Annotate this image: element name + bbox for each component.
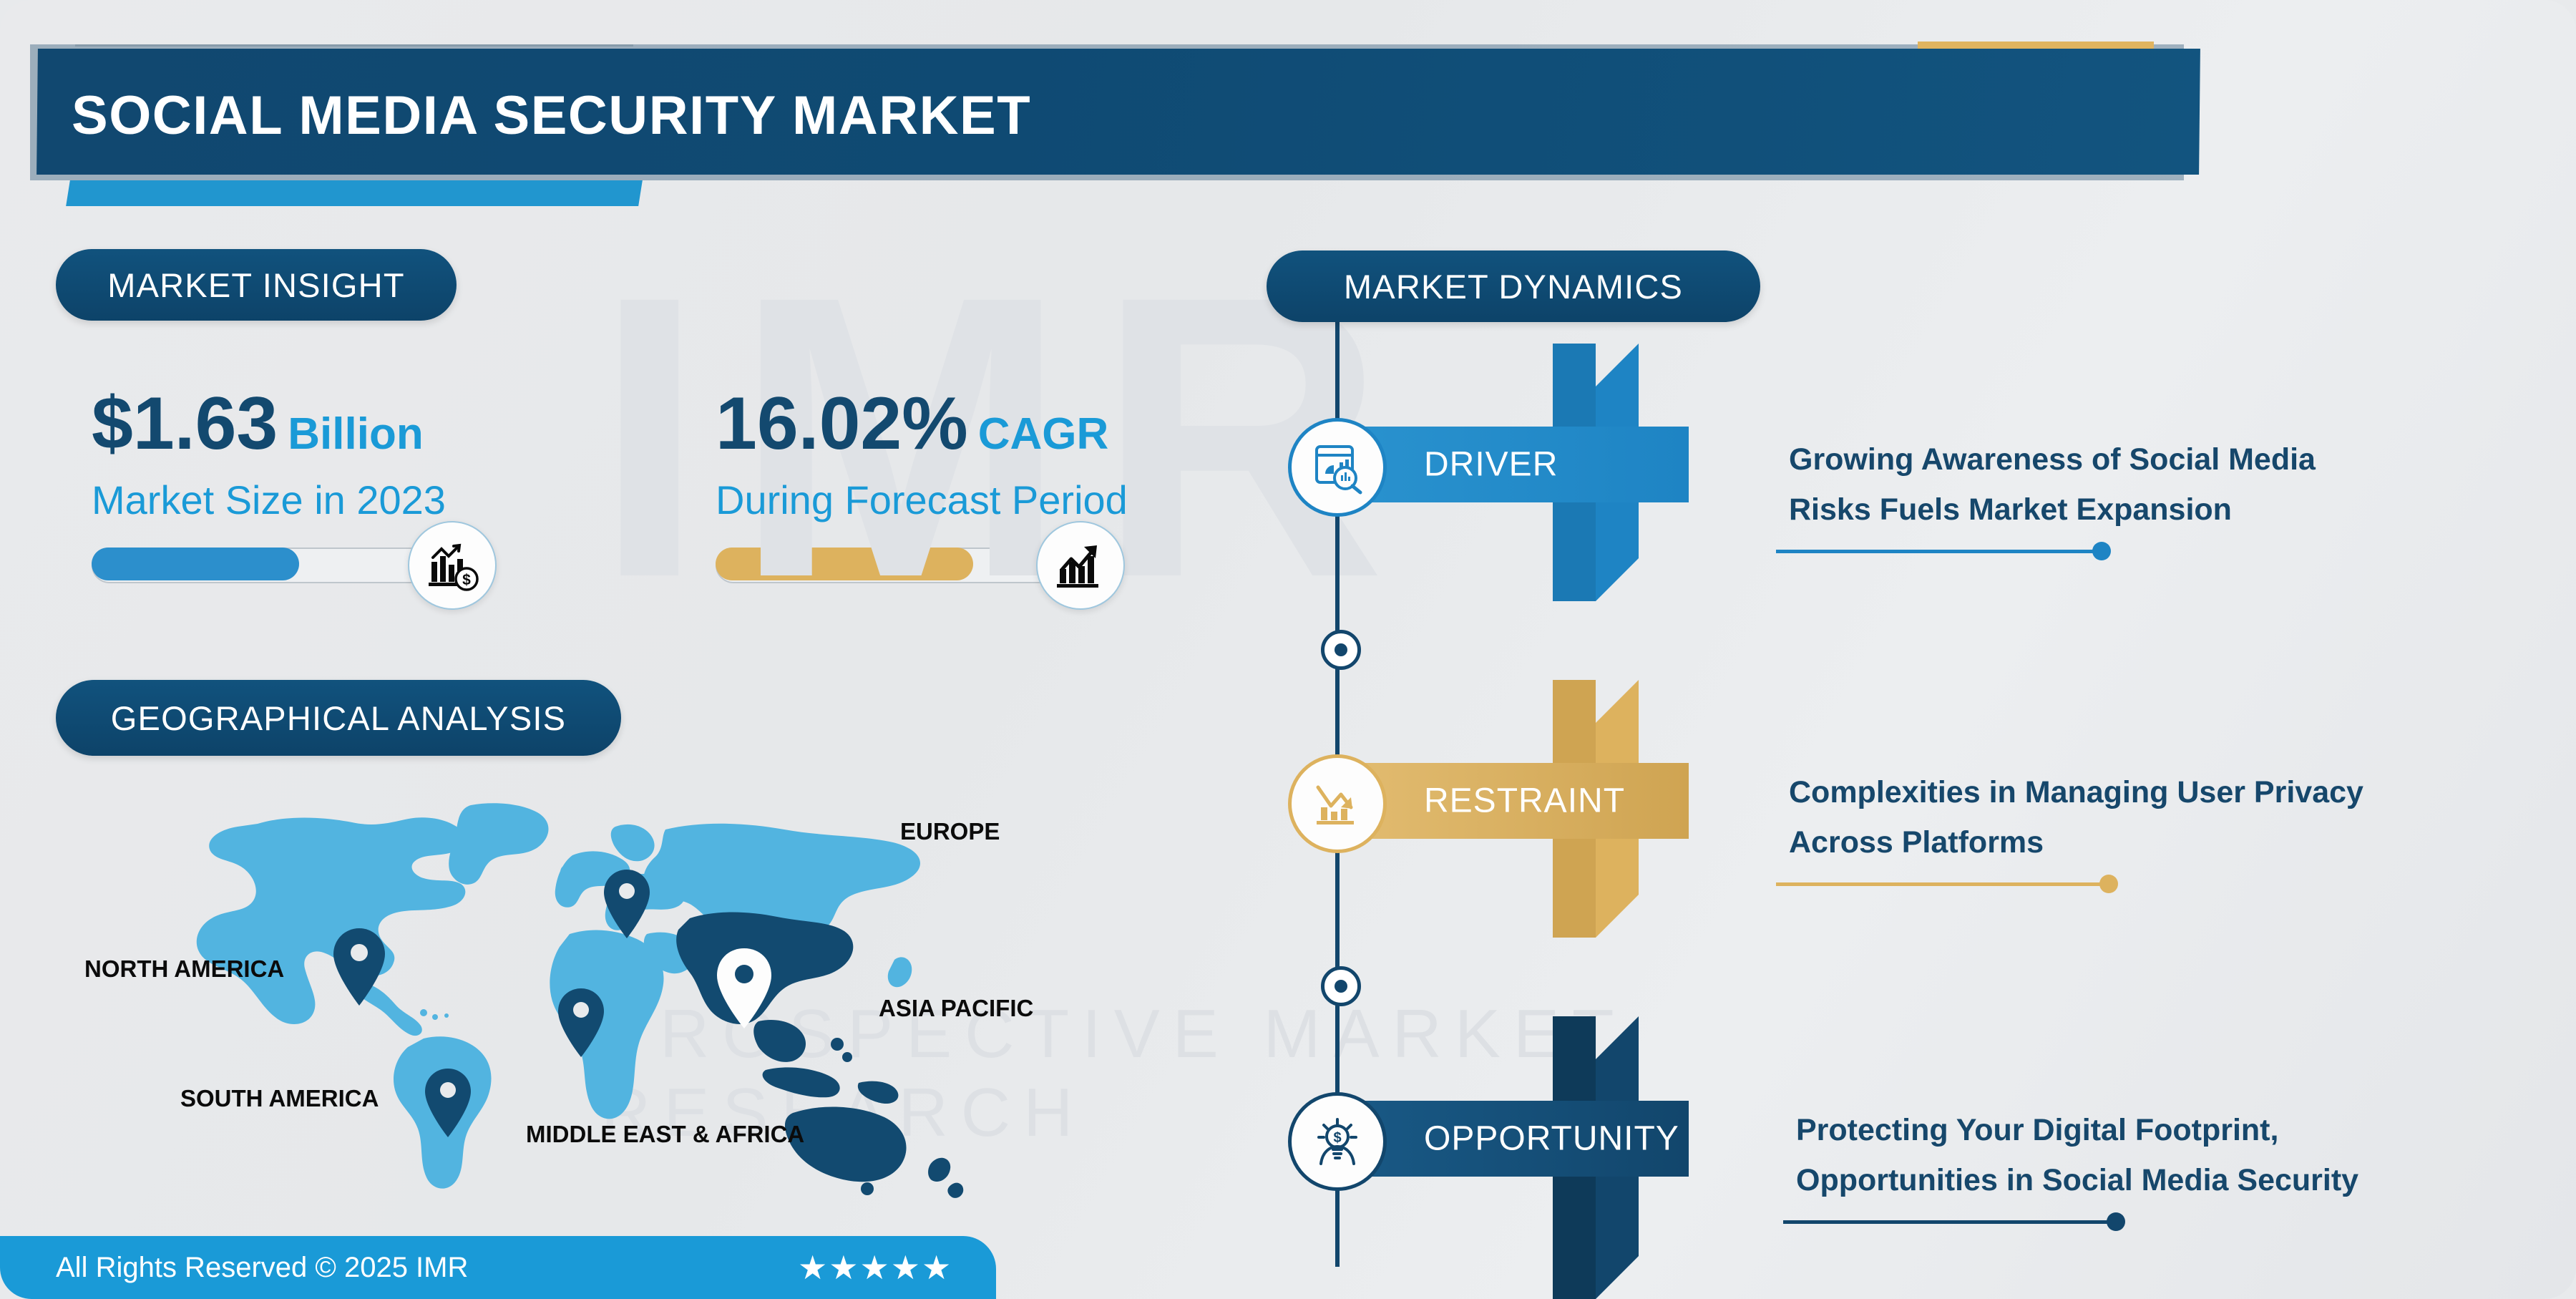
restraint-description-line-2: Across Platforms	[1789, 818, 2519, 868]
restraint-underline	[1776, 882, 2112, 886]
geographical-analysis-pill: GEOGRAPHICAL ANALYSIS	[56, 680, 621, 756]
footer-bar: All Rights Reserved © 2025 IMR ★★★★★	[0, 1236, 996, 1299]
driver-description: Growing Awareness of Social Media Risks …	[1789, 435, 2504, 535]
map-label-asia-pacific: ASIA PACIFIC	[879, 995, 1033, 1022]
opportunity-description: Protecting Your Digital Footprint, Oppor…	[1796, 1106, 2526, 1205]
kpi-market-size-unit: Billion	[288, 409, 423, 459]
driver-description-line-2: Risks Fuels Market Expansion	[1789, 485, 2504, 535]
dynamics-item-driver: DRIVER	[1288, 427, 1689, 502]
driver-description-line-1: Growing Awareness of Social Media	[1789, 435, 2504, 485]
driver-underline	[1776, 550, 2105, 553]
bar-chart-dollar-icon: $	[408, 521, 497, 610]
svg-text:$: $	[1333, 1130, 1341, 1146]
kpi-cagr-unit: CAGR	[978, 409, 1109, 459]
infographic-canvas: IMR PROSPECTIVE MARKET RESEARCH SOCIAL M…	[0, 0, 2576, 1299]
restraint-underline-dot	[2099, 875, 2118, 893]
map-label-europe: EUROPE	[900, 818, 1000, 845]
kpi-cagr-head: 16.02%CAGR	[716, 386, 1216, 461]
lightbulb-dollar-icon: $	[1288, 1092, 1387, 1191]
restraint-description: Complexities in Managing User Privacy Ac…	[1789, 768, 2519, 867]
kpi-market-size-progress-fill	[92, 548, 299, 580]
kpi-cagr-progress-track	[716, 548, 1076, 583]
kpi-cagr-value: 16.02%	[716, 382, 968, 465]
opportunity-underline	[1783, 1220, 2119, 1224]
map-highlight-asia-pacific	[676, 913, 963, 1198]
dynamics-item-restraint: RESTRAINT	[1288, 763, 1689, 839]
restraint-badge-label: RESTRAINT	[1424, 782, 1625, 821]
driver-underline-dot	[2092, 542, 2111, 560]
driver-badge-label: DRIVER	[1424, 445, 1558, 485]
page-plate: IMR PROSPECTIVE MARKET RESEARCH SOCIAL M…	[0, 0, 2576, 1299]
footer-copyright: All Rights Reserved © 2025 IMR	[56, 1252, 468, 1284]
opportunity-description-line-1: Protecting Your Digital Footprint,	[1796, 1106, 2526, 1156]
map-label-south-america: SOUTH AMERICA	[180, 1085, 379, 1112]
growth-arrow-chart-icon	[1036, 521, 1125, 610]
map-label-north-america: NORTH AMERICA	[84, 955, 284, 983]
restraint-description-line-1: Complexities in Managing User Privacy	[1789, 768, 2519, 818]
footer-star-rating: ★★★★★	[798, 1248, 952, 1287]
declining-bar-chart-icon	[1288, 754, 1387, 853]
kpi-market-size-caption: Market Size in 2023	[92, 477, 592, 523]
dynamics-item-opportunity: $ OPPORTUNITY	[1288, 1101, 1689, 1177]
map-label-middle-east-africa: MIDDLE EAST & AFRICA	[526, 1121, 804, 1148]
kpi-cagr: 16.02%CAGR During Forecast Period	[716, 386, 1216, 523]
market-dynamics-pill: MARKET DYNAMICS	[1267, 250, 1760, 322]
kpi-market-size: $1.63Billion Market Size in 2023	[92, 386, 592, 523]
kpi-market-size-progress-track	[92, 548, 452, 583]
market-insight-pill: MARKET INSIGHT	[56, 249, 457, 321]
kpi-cagr-progress-fill	[716, 548, 973, 580]
dynamics-spine-node-1	[1321, 630, 1361, 670]
kpi-market-size-head: $1.63Billion	[92, 386, 592, 461]
kpi-cagr-caption: During Forecast Period	[716, 477, 1216, 523]
opportunity-underline-dot	[2107, 1212, 2125, 1231]
header-blue-accent	[66, 180, 643, 206]
dynamics-spine-node-2	[1321, 966, 1361, 1006]
driver-badge: DRIVER	[1288, 427, 1689, 502]
chart-magnifier-icon	[1288, 418, 1387, 517]
opportunity-description-line-2: Opportunities in Social Media Security	[1796, 1156, 2526, 1206]
kpi-market-size-value: $1.63	[92, 382, 278, 465]
opportunity-badge: $ OPPORTUNITY	[1288, 1101, 1689, 1177]
page-title: SOCIAL MEDIA SECURITY MARKET	[72, 84, 1031, 147]
opportunity-badge-label: OPPORTUNITY	[1424, 1119, 1679, 1159]
svg-text:$: $	[462, 572, 471, 588]
restraint-badge: RESTRAINT	[1288, 763, 1689, 839]
